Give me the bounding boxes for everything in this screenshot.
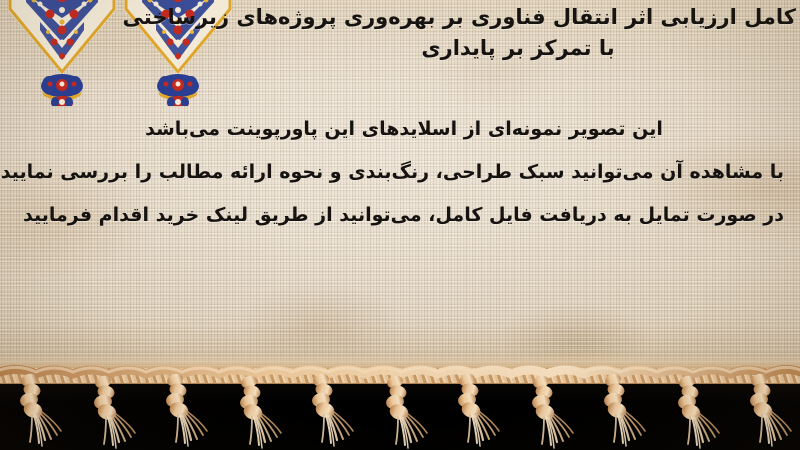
slide-body: این تصویر نمونه‌ای از اسلایدهای این پاور… <box>24 108 784 237</box>
body-line-1: این تصویر نمونه‌ای از اسلایدهای این پاور… <box>24 108 784 151</box>
tassel-item <box>311 372 353 446</box>
title-line-2: با تمرکز بر پایداری <box>240 33 796 64</box>
tassel-item <box>749 372 791 446</box>
body-line-2: با مشاهده آن می‌توانید سبک طراحی، رنگ‌بن… <box>24 151 784 194</box>
slide-canvas: کامل ارزیابی اثر انتقال فناوری بر بهره‌و… <box>0 0 800 450</box>
tassel-item <box>677 374 719 448</box>
tassel-item <box>19 372 61 446</box>
knotted-tassel-fringe <box>0 352 800 450</box>
tassel-item <box>165 372 207 446</box>
tassel-item <box>385 374 427 448</box>
body-line-3: در صورت تمایل به دریافت فایل کامل، می‌تو… <box>24 194 784 237</box>
slide-title: کامل ارزیابی اثر انتقال فناوری بر بهره‌و… <box>240 2 796 64</box>
tassel-item <box>603 372 645 446</box>
persian-medallion-left-icon <box>6 0 118 110</box>
tassel-item <box>457 372 499 446</box>
tassel-item <box>531 374 573 448</box>
tassel-item <box>93 374 135 448</box>
title-line-1: کامل ارزیابی اثر انتقال فناوری بر بهره‌و… <box>240 2 796 33</box>
tassel-item <box>239 374 281 448</box>
